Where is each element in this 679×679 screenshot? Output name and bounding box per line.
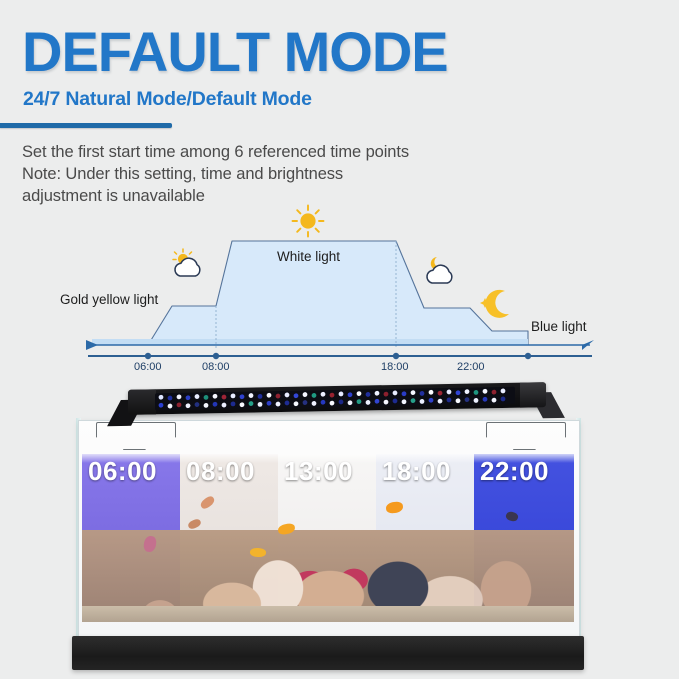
chart-tick-label-0800: 08:00 — [202, 361, 230, 373]
water-surface-line — [82, 454, 574, 463]
chart-tick-dot-1800 — [393, 353, 399, 359]
aquarium-illustration: 06:00 08:00 13:00 18:00 22:00 — [68, 378, 614, 653]
light-schedule-chart — [0, 196, 679, 368]
tank-water-area: 06:00 08:00 13:00 18:00 22:00 — [82, 454, 574, 622]
chart-tick-label-1800: 18:00 — [381, 361, 409, 373]
led-end-cap-right — [520, 382, 546, 407]
chart-tick-label-2200: 22:00 — [457, 361, 485, 373]
led-light-bar — [128, 382, 546, 415]
sun-behind-cloud-icon — [168, 247, 212, 283]
led-diode-strip — [155, 387, 515, 411]
chart-annotation-blue-light: Blue light — [531, 319, 587, 334]
crescent-moon-icon — [477, 286, 519, 324]
note-line-1: Set the first start time among 6 referen… — [22, 142, 542, 164]
led-end-cap-left — [128, 389, 156, 415]
page-subtitle: 24/7 Natural Mode/Default Mode — [23, 88, 312, 111]
tank-substrate-sand — [82, 606, 574, 622]
sun-icon — [290, 203, 326, 239]
title-divider — [0, 123, 172, 128]
led-diodes — [155, 387, 515, 411]
page-root: DEFAULT MODE 24/7 Natural Mode/Default M… — [0, 0, 679, 679]
chart-svg — [0, 196, 679, 368]
axis-arrow-right-icon — [582, 340, 594, 350]
chart-tick-dot-0800 — [213, 353, 219, 359]
chart-annotation-gold-yellow: Gold yellow light — [60, 292, 158, 307]
chart-annotation-white-light: White light — [277, 249, 340, 264]
chart-baseline-band — [92, 339, 528, 345]
chart-tick-dot-2400 — [525, 353, 531, 359]
moon-behind-cloud-icon — [421, 253, 465, 289]
chart-tick-dot-0600 — [145, 353, 151, 359]
chart-tick-label-0600: 06:00 — [134, 361, 162, 373]
tank-stand — [72, 636, 584, 670]
page-title: DEFAULT MODE — [22, 24, 448, 80]
note-line-2: Note: Under this setting, time and brigh… — [22, 164, 542, 186]
